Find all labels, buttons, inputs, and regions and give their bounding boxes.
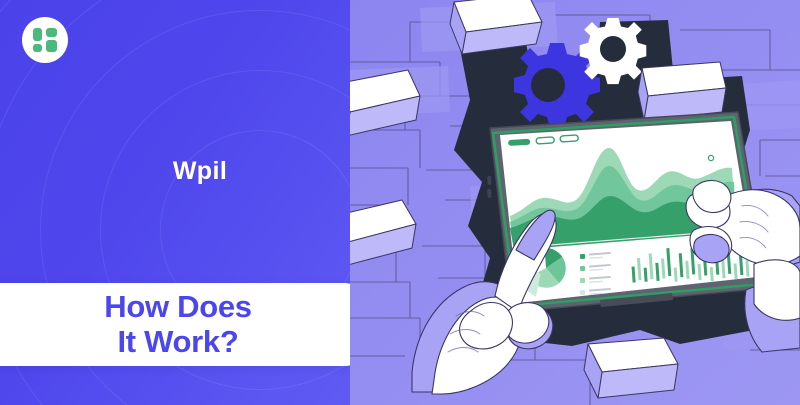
flying-block-right-upper — [638, 62, 726, 120]
flying-block-bottom — [584, 338, 678, 398]
brand-logo[interactable] — [22, 17, 68, 63]
tablet-power-button — [487, 189, 492, 198]
logo-circle-background — [22, 17, 68, 63]
four-tile-grid-icon-tile-2 — [46, 28, 57, 37]
headline-line-2: It Work? — [117, 324, 238, 359]
tablet-volume-button — [487, 176, 492, 185]
four-tile-grid-icon-tile-4 — [46, 40, 57, 52]
hero-illustration — [350, 0, 800, 405]
page-title: How Does It Work? — [84, 290, 251, 359]
four-tile-grid-icon — [33, 28, 42, 41]
promo-banner: Wpil How Does It Work? — [0, 0, 800, 405]
headline-card: How Does It Work? — [0, 283, 362, 366]
gear-small-white — [580, 18, 647, 84]
brand-name: Wpil — [0, 157, 400, 186]
four-tile-grid-icon-tile-3 — [33, 44, 42, 52]
headline-line-1: How Does — [104, 289, 251, 324]
